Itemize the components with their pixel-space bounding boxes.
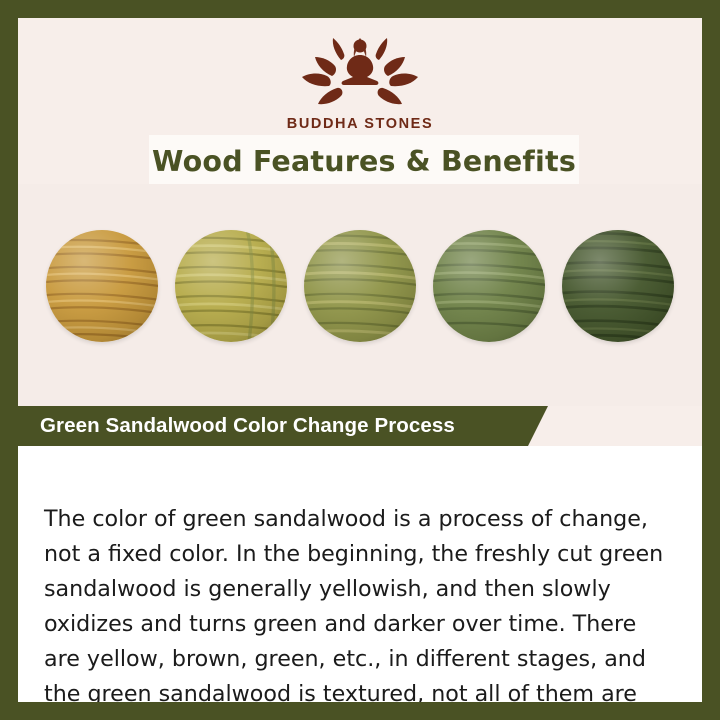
bead-shading — [175, 230, 287, 342]
bead-shading — [46, 230, 158, 342]
bead-shading — [562, 230, 674, 342]
bead-row — [18, 230, 702, 342]
poster-inner: BUDDHA STONES Wood Features & Benefits — [18, 18, 702, 702]
section-bar-notch — [528, 406, 548, 446]
bead-stage-5 — [562, 230, 674, 342]
header: BUDDHA STONES Wood Features & Benefits — [18, 18, 702, 178]
bead-stage-3 — [304, 230, 416, 342]
section-header-bar: Green Sandalwood Color Change Process — [18, 406, 528, 446]
bead-gallery — [18, 184, 702, 406]
bead-stage-2 — [175, 230, 287, 342]
brand-logo: BUDDHA STONES — [18, 30, 702, 132]
page-title: Wood Features & Benefits — [152, 145, 576, 178]
section-title: Green Sandalwood Color Change Process — [18, 414, 455, 438]
description-panel: The color of green sandalwood is a proce… — [18, 446, 702, 702]
bead-stage-4 — [433, 230, 545, 342]
brand-name: BUDDHA STONES — [18, 116, 702, 132]
poster-page: BUDDHA STONES Wood Features & Benefits — [0, 0, 720, 720]
bead-stage-1 — [46, 230, 158, 342]
title-banner: Wood Features & Benefits — [149, 135, 579, 187]
description-text: The color of green sandalwood is a proce… — [44, 502, 678, 702]
buddha-lotus-icon — [285, 30, 435, 114]
bead-shading — [433, 230, 545, 342]
bead-shading — [304, 230, 416, 342]
